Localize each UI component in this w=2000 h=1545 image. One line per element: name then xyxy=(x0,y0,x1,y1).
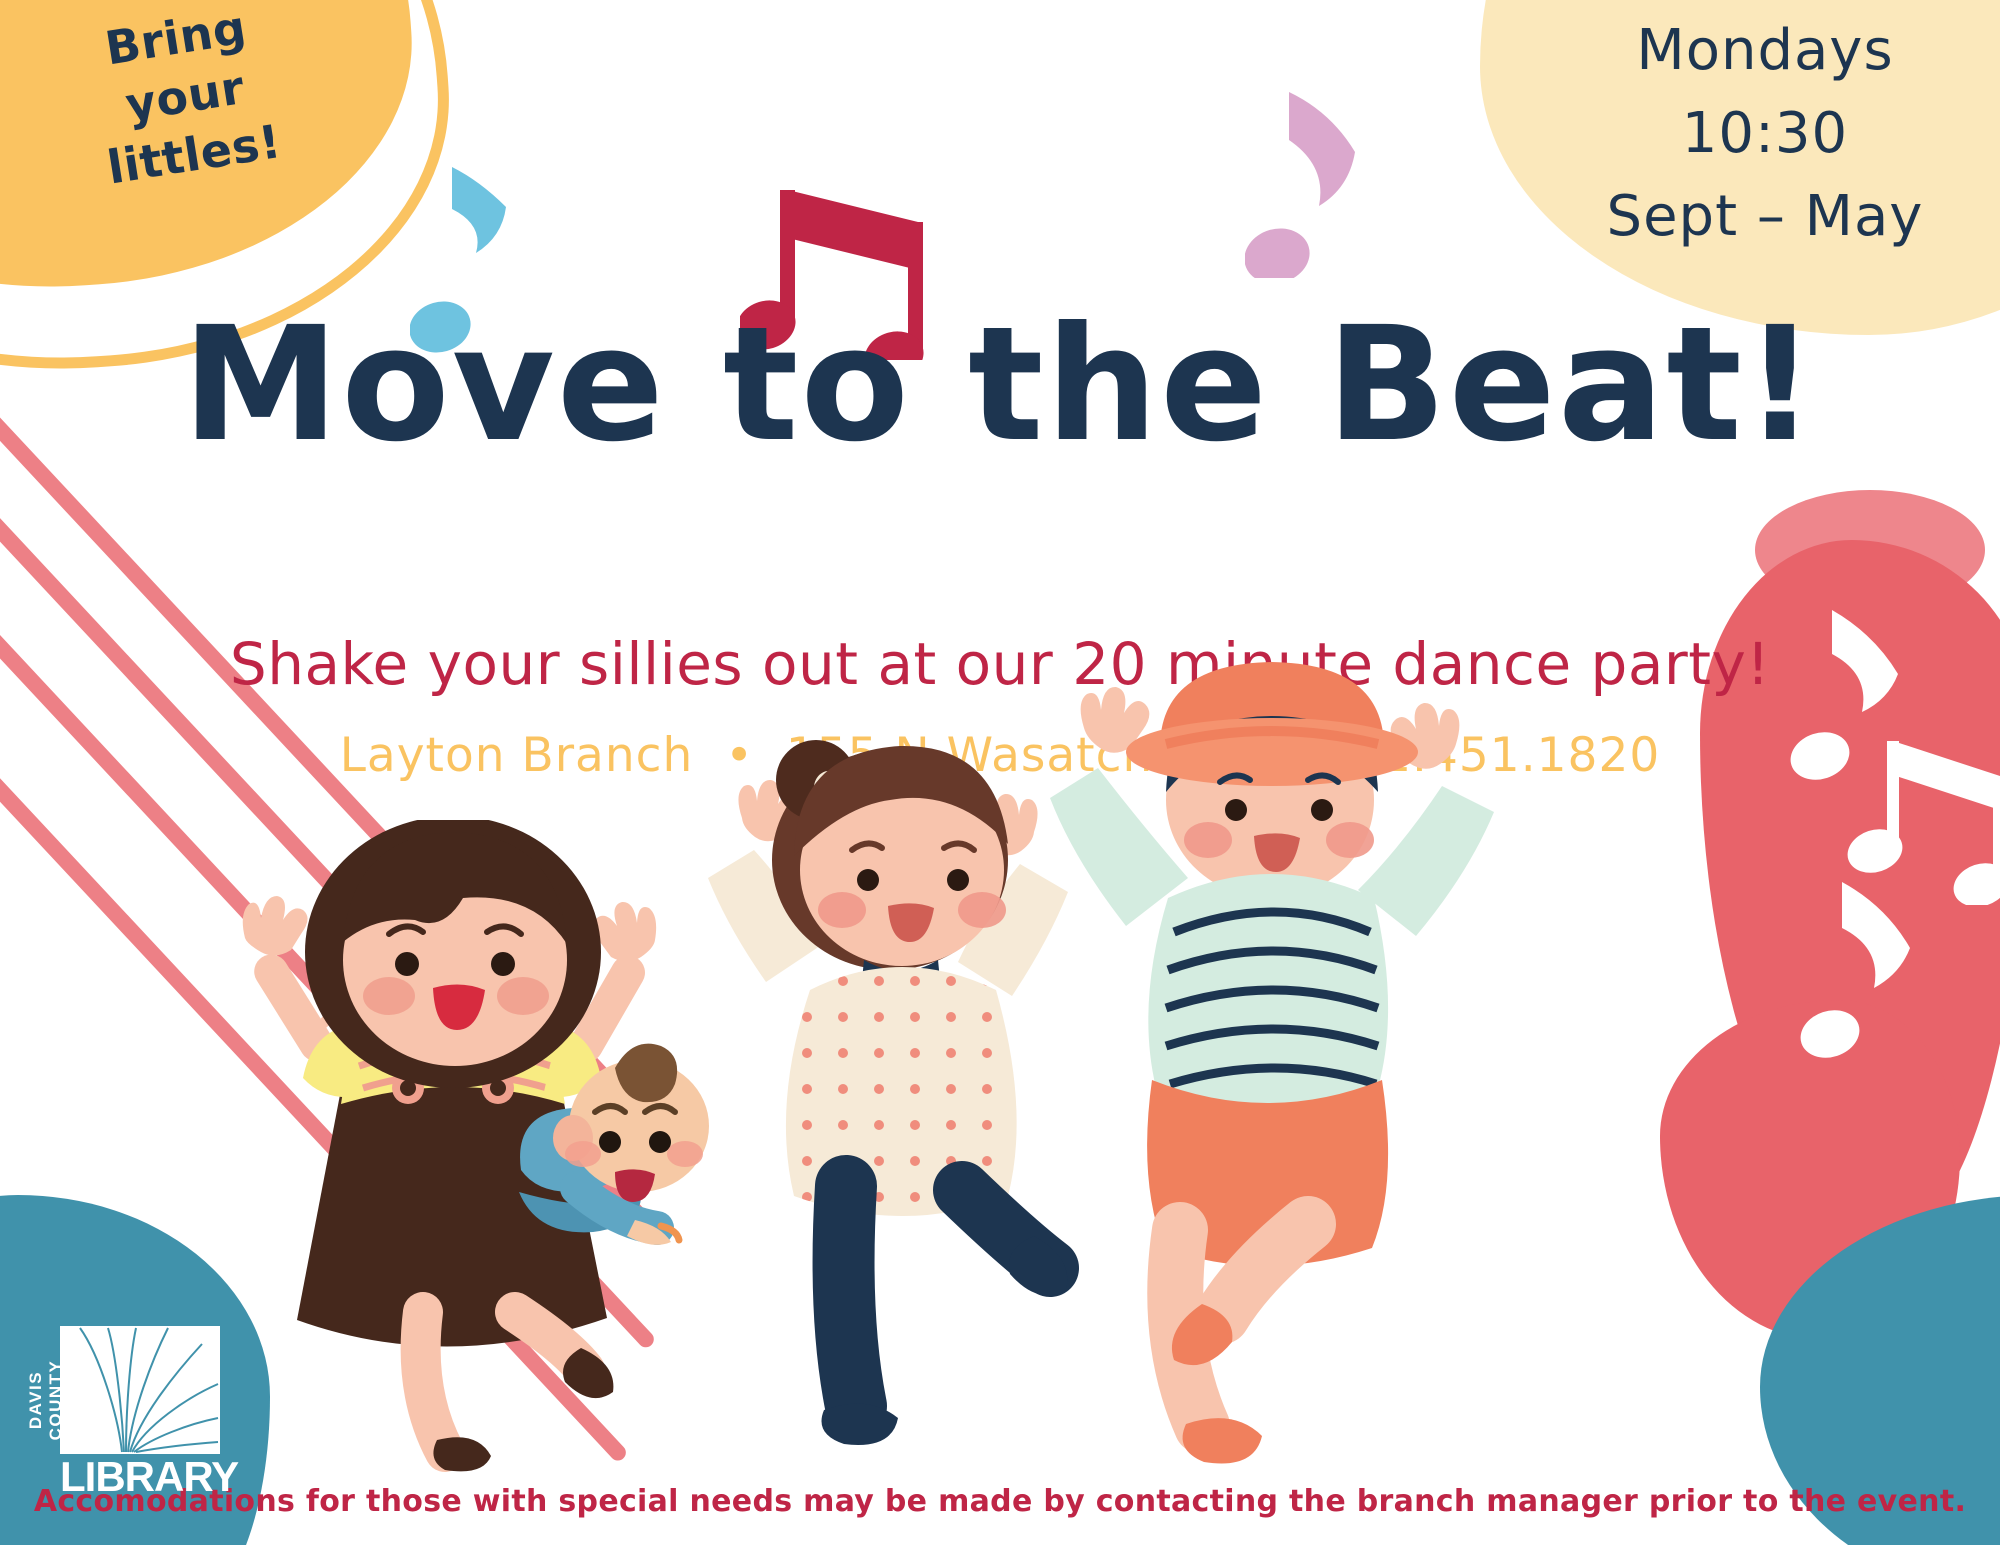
schedule-day: Mondays xyxy=(1560,10,1970,93)
pink-eighth-note-icon xyxy=(1245,78,1375,278)
accommodation-notice: Accomodations for those with special nee… xyxy=(0,1484,2000,1519)
page-title: Move to the Beat! xyxy=(0,305,2000,466)
venue-branch: Layton Branch xyxy=(340,728,694,783)
logo-org-main: LIBRARY xyxy=(60,1453,238,1501)
poster-canvas: Bring your littles! Mondays 10:30 Sept –… xyxy=(0,0,2000,1545)
schedule-time: 10:30 xyxy=(1560,93,1970,176)
logo-org-top: DAVIS COUNTY xyxy=(26,1345,66,1455)
boy-orange-hat-illustration xyxy=(1040,640,1500,1500)
schedule-block: Mondays 10:30 Sept – May xyxy=(1560,10,1970,259)
library-fan-mark-icon xyxy=(60,1326,220,1454)
schedule-season: Sept – May xyxy=(1560,176,1970,259)
white-eighth-note-icon-2 xyxy=(1800,870,1920,1060)
page-subtitle: Shake your sillies out at our 20 minute … xyxy=(0,630,2000,698)
davis-county-library-logo: DAVIS COUNTY LIBRARY xyxy=(18,1318,233,1508)
